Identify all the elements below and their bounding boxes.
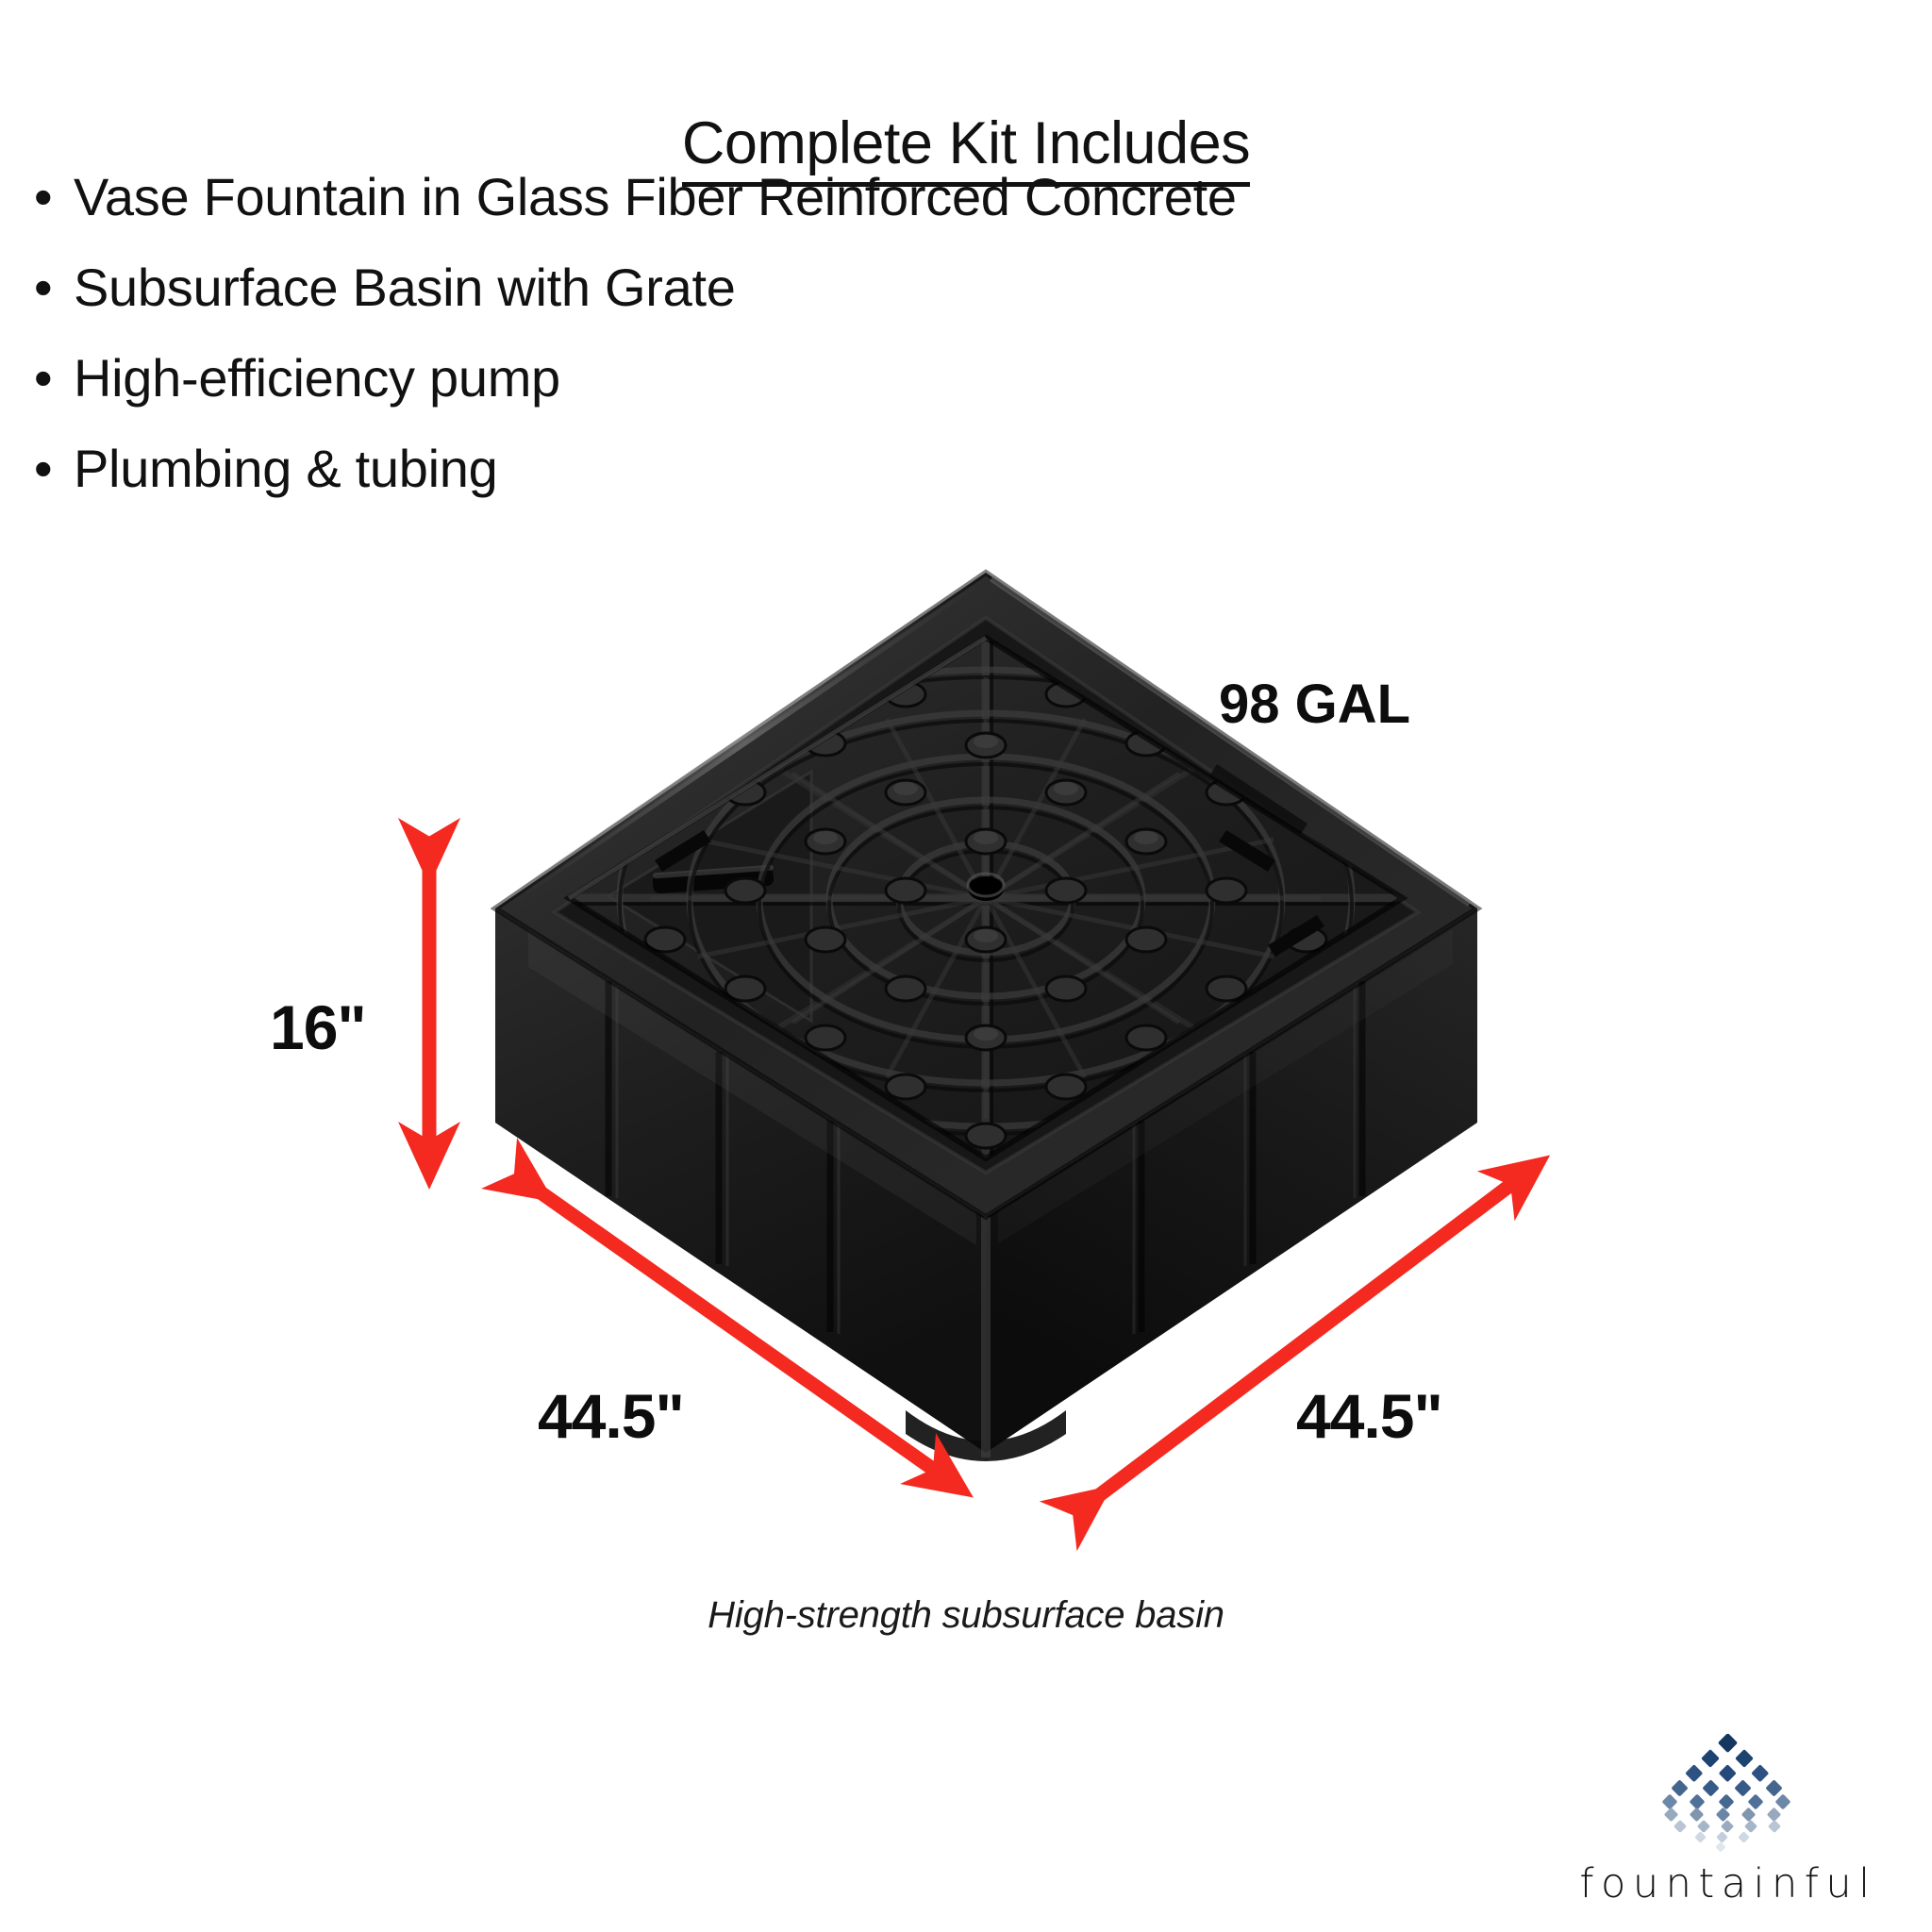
bullet-icon: • bbox=[34, 260, 74, 314]
list-item: • High-efficiency pump bbox=[34, 351, 1732, 405]
infographic-page: Complete Kit Includes • Vase Fountain in… bbox=[0, 0, 1932, 1932]
basin-rim bbox=[495, 573, 1477, 1217]
fountainful-droplet-icon bbox=[1638, 1734, 1817, 1857]
capacity-label: 98 GAL bbox=[1219, 677, 1410, 732]
kit-item-label: Plumbing & tubing bbox=[74, 441, 1732, 495]
height-label: 16" bbox=[270, 996, 366, 1058]
bullet-icon: • bbox=[34, 170, 74, 224]
list-item: • Vase Fountain in Glass Fiber Reinforce… bbox=[34, 170, 1732, 224]
width-left-label: 44.5" bbox=[538, 1385, 684, 1447]
kit-item-label: Vase Fountain in Glass Fiber Reinforced … bbox=[74, 170, 1732, 224]
kit-includes-list: • Vase Fountain in Glass Fiber Reinforce… bbox=[34, 170, 1732, 532]
list-item: • Plumbing & tubing bbox=[34, 441, 1732, 495]
bullet-icon: • bbox=[34, 441, 74, 495]
kit-item-label: Subsurface Basin with Grate bbox=[74, 260, 1732, 314]
list-item: • Subsurface Basin with Grate bbox=[34, 260, 1732, 314]
product-caption: High-strength subsurface basin bbox=[0, 1594, 1932, 1637]
basin-body bbox=[495, 908, 1477, 1461]
bullet-icon: • bbox=[34, 351, 74, 405]
kit-item-label: High-efficiency pump bbox=[74, 351, 1732, 405]
width-right-label: 44.5" bbox=[1296, 1385, 1442, 1447]
brand-logo: fountainful bbox=[1553, 1734, 1904, 1919]
brand-wordmark: fountainful bbox=[1553, 1860, 1904, 1907]
width-right-arrow bbox=[1083, 1177, 1521, 1507]
